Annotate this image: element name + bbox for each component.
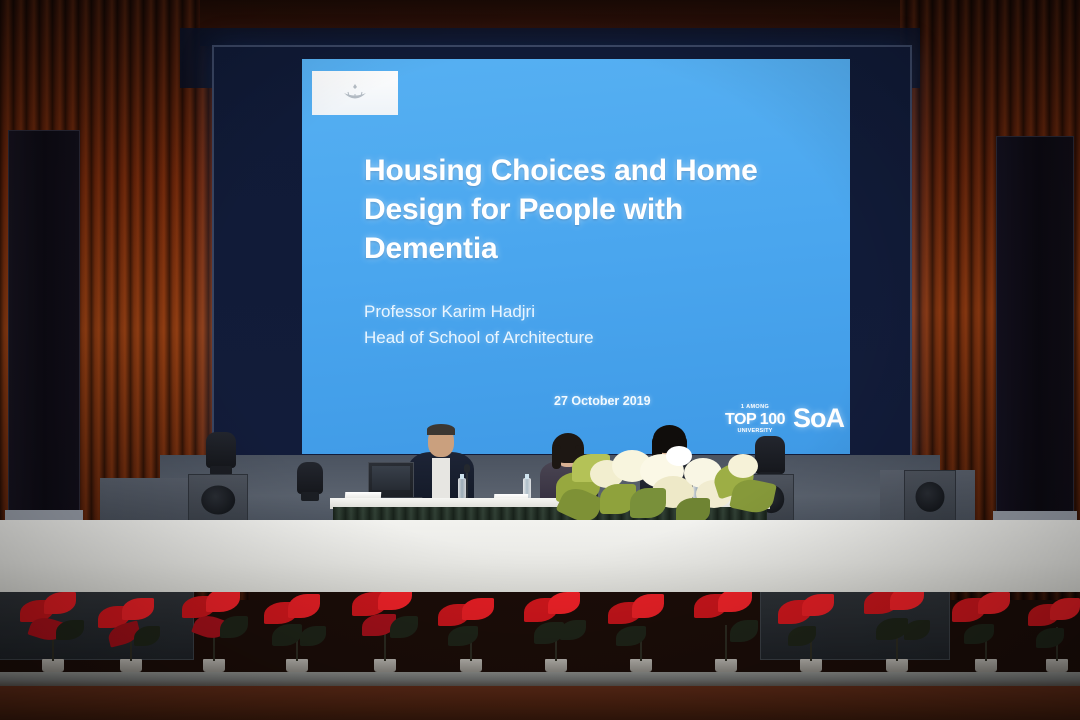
foreground-ledge-front-panel xyxy=(0,686,1080,720)
slide-presenter-block: Professor Karim Hadjri Head of School of… xyxy=(364,299,824,350)
poinsettia-plant xyxy=(178,578,250,672)
slide-title-line-2: Design for People with xyxy=(364,190,834,229)
badge-top-base-text: UNIVERSITY xyxy=(738,429,773,435)
poinsettia-plant xyxy=(606,582,676,672)
poinsettia-plant xyxy=(520,580,592,672)
projection-screen: Housing Choices and Home Design for Peop… xyxy=(212,45,912,460)
speaker-tower-right xyxy=(996,136,1074,516)
speaker-cone-icon xyxy=(201,486,235,515)
stage-light-left xyxy=(206,432,236,468)
presenter-role: Head of School of Architecture xyxy=(364,325,824,351)
university-crest-logo xyxy=(312,71,398,115)
laptop-screen xyxy=(372,466,410,490)
poinsettia-plant xyxy=(1026,584,1080,672)
presenter-name: Professor Karim Hadjri xyxy=(364,299,824,325)
slide-title-line-1: Housing Choices and Home xyxy=(364,151,834,190)
poinsettia-plant xyxy=(690,578,762,672)
foreground-ledge xyxy=(0,672,1080,686)
speaker-hair xyxy=(427,424,455,435)
poinsettia-plant xyxy=(436,584,506,672)
speaker-shirt xyxy=(432,458,450,500)
table-flower-arrangement xyxy=(556,446,776,526)
stage-monitor-left xyxy=(188,474,248,526)
school-of-architecture-logo: SoA xyxy=(793,403,844,434)
slide-date: 27 October 2019 xyxy=(554,394,651,408)
slide-title-line-3: Dementia xyxy=(364,229,834,268)
speaker-cone-icon xyxy=(916,482,945,512)
top-100-university-badge: 1 AMONG TOP 100 UNIVERSITY xyxy=(725,405,785,434)
poinsettia-plant xyxy=(96,584,166,672)
poinsettia-plant xyxy=(16,580,90,672)
speaker-tower-left xyxy=(8,130,80,515)
stage-apron-floor xyxy=(0,520,1080,592)
poinsettia-plant xyxy=(950,580,1022,672)
poinsettia-plant xyxy=(262,582,332,672)
stage-monitor-far-right xyxy=(904,470,956,524)
presentation-slide: Housing Choices and Home Design for Peop… xyxy=(302,59,850,454)
water-bottle-1 xyxy=(458,478,466,500)
poinsettia-plant xyxy=(776,582,846,672)
badge-top-small-text: 1 AMONG xyxy=(741,405,769,411)
slide-title: Housing Choices and Home Design for Peop… xyxy=(364,151,834,268)
badge-top-large-text: TOP 100 xyxy=(725,412,785,428)
stage-light-left-2 xyxy=(297,462,323,494)
conference-stage-scene: Housing Choices and Home Design for Peop… xyxy=(0,0,1080,720)
slide-footer-badges: 1 AMONG TOP 100 UNIVERSITY SoA xyxy=(725,403,844,434)
table-microphone-1 xyxy=(466,470,468,500)
